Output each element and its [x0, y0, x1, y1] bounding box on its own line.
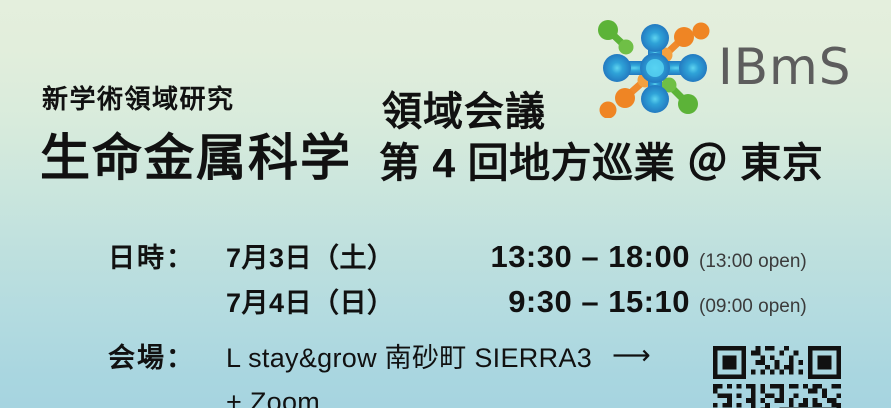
schedule-block: 日時： 7月3日（土） 13:30 – 18:00 (13:00 open) 日…: [108, 236, 888, 326]
schedule-date: 7月3日（土）: [226, 236, 468, 275]
schedule-row: 日時： 7月3日（土） 13:30 – 18:00 (13:00 open): [108, 236, 888, 281]
event-poster: IBmS 新学術領域研究 生命金属科学 領域会議 第 4 回地方巡業 ＠ 東京 …: [0, 0, 891, 408]
venue-name: L stay&grow 南砂町 SIERRA3: [226, 336, 592, 375]
schedule-row: 日時： 7月4日（日） 9:30 – 15:10 (09:00 open): [108, 281, 888, 326]
schedule-open-time: (13:00 open): [690, 251, 807, 273]
meeting-edition: 第 4 回地方巡業 ＠ 東京: [379, 143, 823, 184]
ibms-wordmark: IBmS: [718, 42, 852, 92]
program-kicker: 新学術領域研究: [42, 86, 235, 112]
venue-label: 会場：: [108, 336, 226, 375]
ibms-logo: IBmS: [596, 18, 886, 118]
schedule-date: 7月4日（日）: [226, 281, 468, 320]
page-title: 生命金属科学: [40, 133, 352, 183]
hub-highlight: [646, 59, 664, 77]
qr-code[interactable]: [708, 341, 846, 408]
venue-online: + Zoom: [226, 387, 320, 408]
green-node-top-left: [598, 20, 634, 55]
schedule-label: 日時：: [108, 236, 226, 275]
meeting-subtitle: 領域会議: [382, 92, 546, 132]
schedule-time: 9:30 – 15:10: [468, 284, 690, 320]
arrow-right-icon: ⟶: [592, 342, 651, 369]
schedule-open-time: (09:00 open): [690, 296, 807, 318]
ibms-logo-mark: [596, 18, 714, 118]
schedule-time: 13:30 – 18:00: [468, 239, 690, 275]
